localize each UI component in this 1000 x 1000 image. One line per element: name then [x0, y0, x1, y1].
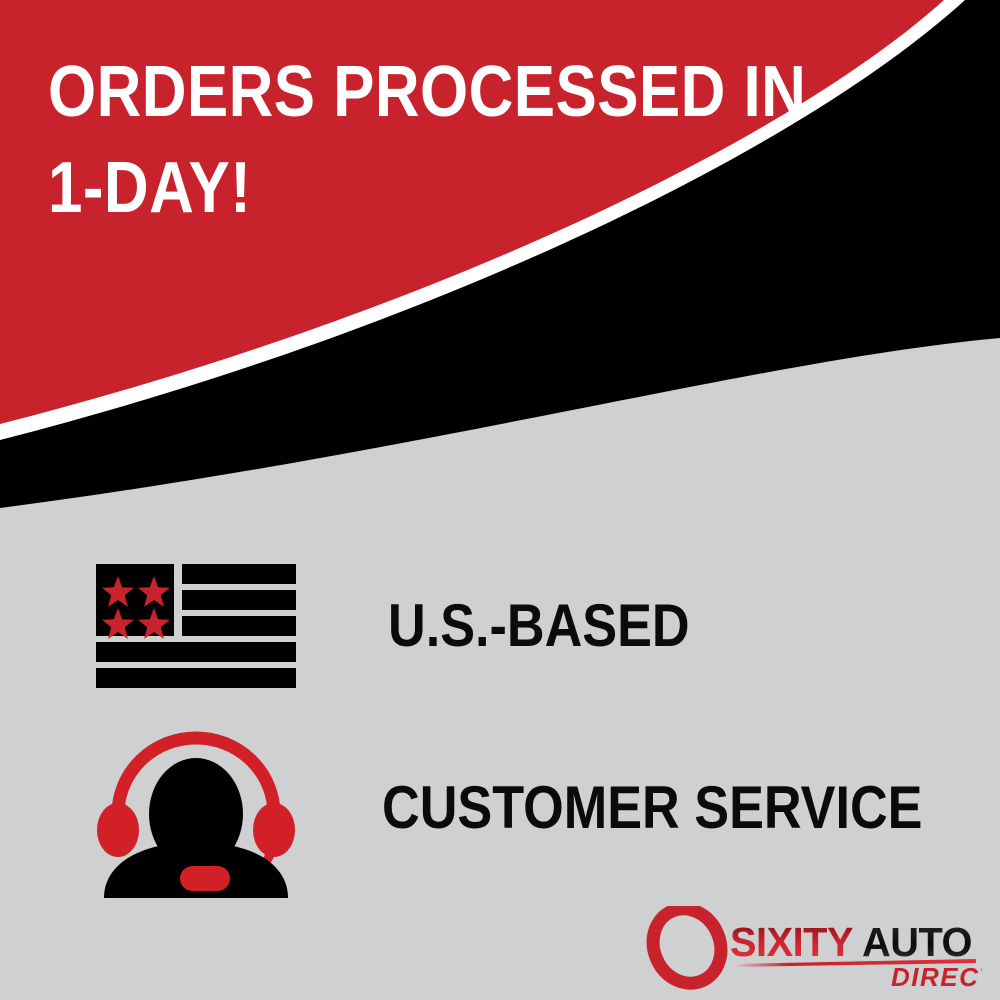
flag-short-stripes: [182, 564, 296, 636]
headline-line-1: ORDERS PROCESSED IN: [48, 44, 719, 140]
headset-earcup-left: [97, 803, 139, 857]
sixity-auto-direct-logo[interactable]: SIXITY AUTO DIRECT: [646, 906, 982, 990]
headset-mic-mouthpiece: [180, 866, 230, 891]
flag-long-stripes: [96, 642, 296, 688]
feature-label-us-based: U.S.-BASED: [388, 596, 690, 656]
promo-banner: ORDERS PROCESSED IN 1-DAY!: [0, 0, 1000, 1000]
feature-label-customer-service: CUSTOMER SERVICE: [382, 778, 922, 838]
headline-line-2: 1-DAY!: [48, 140, 719, 236]
logo-tagline-direct: DIRECT: [891, 962, 982, 990]
feature-row-customer-service: CUSTOMER SERVICE: [88, 718, 1000, 898]
feature-row-us-based: U.S.-BASED: [88, 556, 735, 696]
usa-flag-icon: [88, 556, 304, 696]
headset-support-agent-icon: [88, 718, 304, 898]
logo-word-auto: AUTO: [862, 918, 972, 965]
headline: ORDERS PROCESSED IN 1-DAY!: [48, 44, 719, 236]
logo-word-sixity: SIXITY: [730, 918, 854, 965]
sixity-ellipse-ring-icon: [646, 906, 733, 990]
